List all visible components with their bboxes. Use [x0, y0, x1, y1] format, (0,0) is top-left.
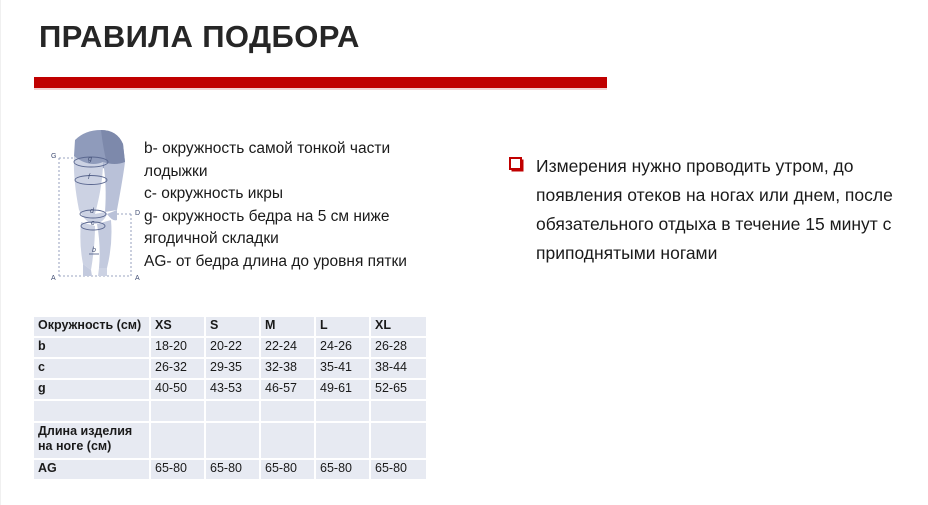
cell-ag-l: 65-80 [316, 460, 371, 481]
table-row: AG 65-80 65-80 65-80 65-80 65-80 [34, 460, 426, 481]
spacer-cell-label [34, 401, 151, 423]
leg-measurement-diagram: G g f d D c b A A [45, 118, 155, 293]
section-cell-s [206, 423, 261, 460]
cell-b-l: 24-26 [316, 338, 371, 359]
table-header-l: L [316, 317, 371, 338]
table-row: g 40-50 43-53 46-57 49-61 52-65 [34, 380, 426, 401]
section-cell-xs [151, 423, 206, 460]
diagram-label-b: b [92, 247, 96, 254]
legend-line-g: g- окружность бедра на 5 см ниже ягодичн… [144, 206, 444, 251]
cell-b-s: 20-22 [206, 338, 261, 359]
diagram-label-A-left: A [51, 275, 56, 282]
spacer-cell-xl [371, 401, 426, 423]
cell-c-m: 32-38 [261, 359, 316, 380]
spacer-cell-l [316, 401, 371, 423]
cell-c-xl: 38-44 [371, 359, 426, 380]
measurement-legend: b- окружность самой тонкой части лодыжки… [144, 138, 444, 274]
legend-line-ag: AG- от бедра длина до уровня пятки [144, 251, 444, 274]
red-square-bullet-icon [509, 157, 522, 170]
cell-c-l: 35-41 [316, 359, 371, 380]
spacer-cell-m [261, 401, 316, 423]
cell-ag-xl: 65-80 [371, 460, 426, 481]
cell-c-s: 29-35 [206, 359, 261, 380]
diagram-label-c: c [91, 220, 95, 227]
cell-g-xl: 52-65 [371, 380, 426, 401]
cell-g-m: 46-57 [261, 380, 316, 401]
table-header-m: M [261, 317, 316, 338]
accent-divider-shadow [34, 88, 607, 90]
cell-ag-s: 65-80 [206, 460, 261, 481]
table-section-row: Длина изделия на ноге (см) [34, 423, 426, 460]
table-header-row: Окружность (см) XS S M L XL [34, 317, 426, 338]
cell-g-l: 49-61 [316, 380, 371, 401]
spacer-cell-s [206, 401, 261, 423]
legend-line-c: c- окружность икры [144, 183, 444, 206]
diagram-label-g: g [88, 156, 92, 163]
row-label-c: c [34, 359, 151, 380]
cell-ag-xs: 65-80 [151, 460, 206, 481]
diagram-label-G: G [51, 153, 56, 160]
section-cell-m [261, 423, 316, 460]
row-label-g: g [34, 380, 151, 401]
table-header-s: S [206, 317, 261, 338]
section-cell-l [316, 423, 371, 460]
legend-line-b: b- окружность самой тонкой части лодыжки [144, 138, 444, 183]
table-row: b 18-20 20-22 22-24 24-26 26-28 [34, 338, 426, 359]
cell-g-xs: 40-50 [151, 380, 206, 401]
accent-divider-bar [34, 77, 607, 88]
cell-g-s: 43-53 [206, 380, 261, 401]
page-title: ПРАВИЛА ПОДБОРА [39, 18, 360, 56]
diagram-label-A-right: A [135, 275, 140, 282]
size-chart-table: Окружность (см) XS S M L XL b 18-20 20-2… [34, 317, 426, 481]
row-label-b: b [34, 338, 151, 359]
advice-note-text: Измерения нужно проводить утром, до появ… [509, 152, 909, 268]
table-header-xs: XS [151, 317, 206, 338]
table-spacer-row [34, 401, 426, 423]
cell-ag-m: 65-80 [261, 460, 316, 481]
diagram-label-D: D [135, 210, 140, 217]
cell-b-xs: 18-20 [151, 338, 206, 359]
table-header-measure: Окружность (см) [34, 317, 151, 338]
cell-b-xl: 26-28 [371, 338, 426, 359]
section-cell-xl [371, 423, 426, 460]
spacer-cell-xs [151, 401, 206, 423]
row-label-ag: AG [34, 460, 151, 481]
section-label-length: Длина изделия на ноге (см) [34, 423, 151, 460]
table-row: c 26-32 29-35 32-38 35-41 38-44 [34, 359, 426, 380]
measurement-advice-note: Измерения нужно проводить утром, до появ… [509, 152, 909, 268]
cell-b-m: 22-24 [261, 338, 316, 359]
table-header-xl: XL [371, 317, 426, 338]
cell-c-xs: 26-32 [151, 359, 206, 380]
